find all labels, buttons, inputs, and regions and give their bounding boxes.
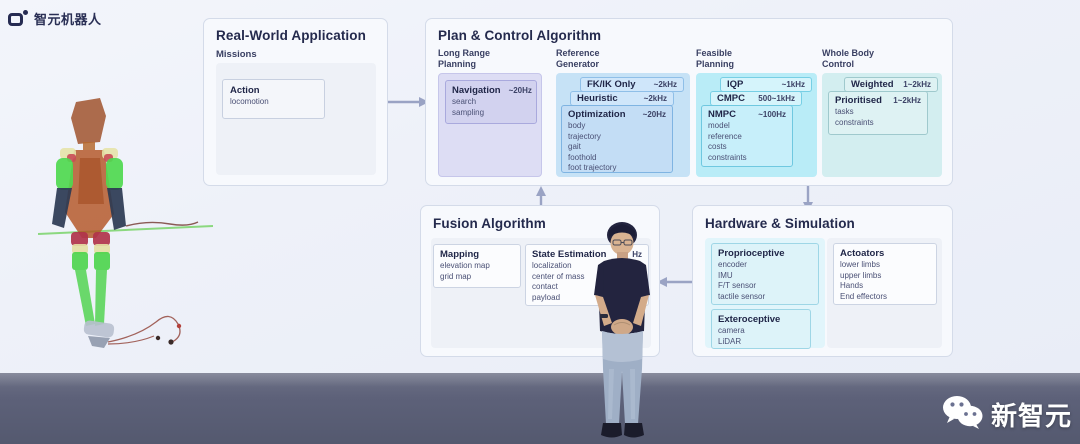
card-title-cmpc: CMPC [717,93,745,104]
brand-name: 智元机器人 [34,9,102,28]
card-cmpc[interactable]: CMPC 500~1kHz [710,91,802,106]
card-hz-prioritised: 1~2kHz [893,96,921,105]
presenter-standing [576,219,668,444]
panel-title-real-world: Real-World Application [216,28,366,43]
card-hz-weighted: 1~2kHz [903,80,931,89]
watermark: 新智元 [942,395,1072,434]
card-title-nmpc: NMPC [708,109,736,120]
card-hz-heuristic: ~2kHz [644,94,667,103]
card-items-nmpc: model reference costs constraints [708,121,786,163]
panel-real-world-application: Real-World Application Missions Action l… [203,18,388,186]
panel-title-fusion: Fusion Algorithm [433,216,546,231]
card-fk-ik-only[interactable]: FK/IK Only ~2kHz [580,77,684,92]
arrow-realworld-to-plan [388,95,430,109]
card-items-action: locomotion [230,97,317,108]
card-iqp[interactable]: IQP ~1kHz [720,77,812,92]
card-hz-iqp: ~1kHz [782,80,805,89]
card-title-proprioceptive: Proprioceptive [718,248,785,259]
floor-sheen [0,373,1080,387]
column-heading-reference-generator: Reference Generator [556,48,600,70]
card-title-fk-ik-only: FK/IK Only [587,79,636,90]
card-items-optimization: body trajectory gait foothold foot traje… [568,121,666,174]
group-whole-body-control: Weighted 1~2kHz Prioritised 1~2kHz tasks… [822,73,942,177]
card-actoators[interactable]: Actoators lower limbs upper limbs Hands … [833,243,937,305]
card-hz-fk-ik-only: ~2kHz [654,80,677,89]
panel-title-hardware: Hardware & Simulation [705,216,855,231]
card-title-actoators: Actoators [840,248,884,259]
card-title-exteroceptive: Exteroceptive [718,314,780,325]
group-long-range-planning: Navigation ~20Hz search sampling [438,73,542,177]
card-title-iqp: IQP [727,79,743,90]
card-title-optimization: Optimization [568,109,626,120]
card-items-prioritised: tasks constraints [835,107,921,128]
card-hz-optimization: ~20Hz [643,110,666,119]
group-reference-generator: FK/IK Only ~2kHz Heuristic ~2kHz Optimiz… [556,73,690,177]
card-action[interactable]: Action locomotion [222,79,325,119]
panel-hardware-simulation: Hardware & Simulation Proprioceptive enc… [692,205,953,357]
card-proprioceptive[interactable]: Proprioceptive encoder IMU F/T sensor ta… [711,243,819,305]
card-optimization[interactable]: Optimization ~20Hz body trajectory gait … [561,105,673,173]
card-heuristic[interactable]: Heuristic ~2kHz [570,91,674,106]
card-title-action: Action [230,85,260,96]
card-items-proprioceptive: encoder IMU F/T sensor tactile sensor [718,260,812,302]
card-title-weighted: Weighted [851,79,894,90]
agibot-logo-icon [8,10,28,27]
card-title-heuristic: Heuristic [577,93,618,104]
card-mapping[interactable]: Mapping elevation map grid map [433,244,521,288]
column-heading-long-range-planning: Long Range Planning [438,48,490,70]
card-hz-nmpc: ~100Hz [758,110,786,119]
column-heading-whole-body-control: Whole Body Control [822,48,874,70]
wechat-icon [942,395,984,434]
section-label-missions: Missions [216,49,257,60]
card-items-actoators: lower limbs upper limbs Hands End effect… [840,260,930,302]
brand-logo: 智元机器人 [8,9,102,28]
card-weighted[interactable]: Weighted 1~2kHz [844,77,938,92]
card-hz-cmpc: 500~1kHz [758,94,795,103]
card-items-exteroceptive: camera LiDAR [718,326,804,347]
card-items-navigation: search sampling [452,97,530,118]
card-nmpc[interactable]: NMPC ~100Hz model reference costs constr… [701,105,793,167]
card-title-navigation: Navigation [452,85,501,96]
card-navigation[interactable]: Navigation ~20Hz search sampling [445,80,537,124]
card-prioritised[interactable]: Prioritised 1~2kHz tasks constraints [828,91,928,135]
card-items-mapping: elevation map grid map [440,261,514,282]
card-exteroceptive[interactable]: Exteroceptive camera LiDAR [711,309,811,349]
column-heading-feasible-planning: Feasible Planning [696,48,734,70]
humanoid-robot-simulation [38,86,213,352]
panel-plan-control-algorithm: Plan & Control Algorithm Long Range Plan… [425,18,953,186]
card-title-mapping: Mapping [440,249,479,260]
panel-title-plan-control: Plan & Control Algorithm [438,28,601,43]
card-hz-navigation: ~20Hz [509,86,532,95]
group-feasible-planning: IQP ~1kHz CMPC 500~1kHz NMPC ~100Hz mode… [696,73,817,177]
watermark-text: 新智元 [991,396,1072,433]
card-title-prioritised: Prioritised [835,95,882,106]
